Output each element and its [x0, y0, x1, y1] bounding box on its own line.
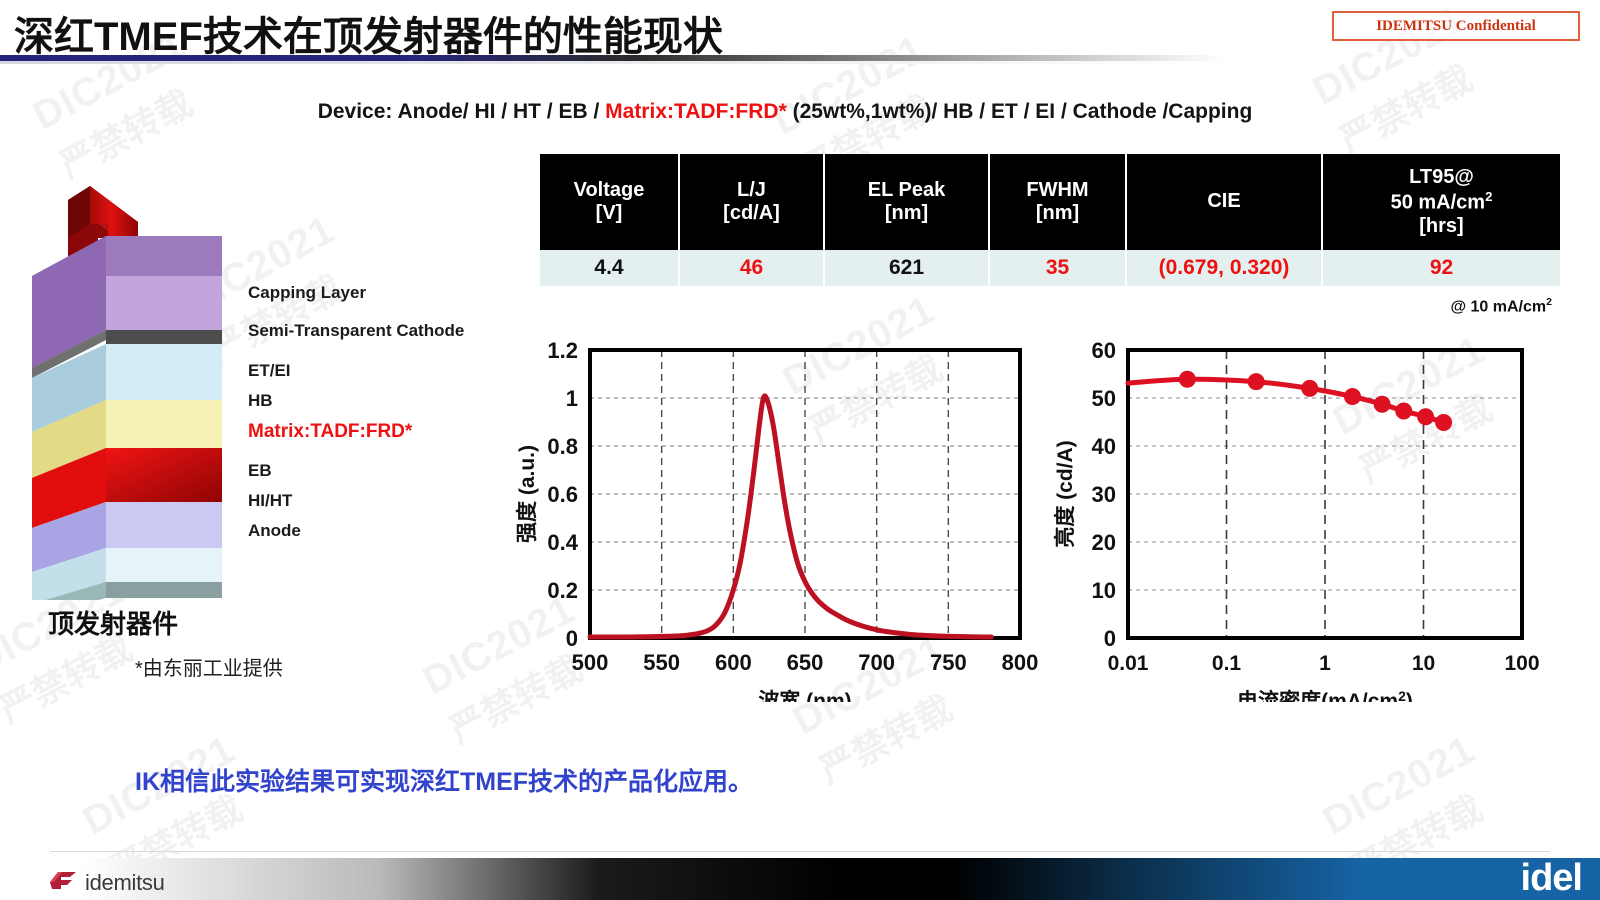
table-header-lj: L/J[cd/A]	[680, 154, 825, 250]
stack-label-cathode: Semi-Transparent Cathode	[248, 322, 464, 339]
ytick-label: 10	[1092, 578, 1116, 603]
y-axis-label: 亮度 (cd/A)	[1053, 440, 1077, 547]
xtick-label: 650	[787, 650, 824, 675]
xtick-label: 10	[1412, 652, 1435, 675]
bottom-message: IK相信此实验结果可实现深红TMEF技术的产品化应用。	[135, 762, 753, 798]
xtick-label: 600	[715, 650, 752, 675]
xtick-label: 750	[930, 650, 967, 675]
device-line-suffix: (25wt%,1wt%)/ HB / ET / EI / Cathode /Ca…	[787, 100, 1253, 123]
table-cell-fwhm: 35	[990, 250, 1127, 286]
performance-table: Voltage[V] L/J[cd/A] EL Peak[nm] FWHM[nm…	[540, 154, 1560, 286]
table-cell-cie: (0.679, 0.320)	[1127, 250, 1323, 286]
table-value-row: 4.4 46 621 35 (0.679, 0.320) 92	[540, 250, 1560, 286]
footer-company-logo: idemitsu	[48, 868, 165, 897]
ytick-label: 0.2	[547, 578, 578, 603]
footer-divider	[50, 851, 1550, 852]
table-header-lt95: LT95@50 mA/cm2[hrs]	[1323, 154, 1560, 250]
confidential-badge: IDEMITSU Confidential	[1332, 11, 1580, 41]
device-stack-supply-note: *由东丽工业提供	[135, 652, 283, 681]
ytick-label: 50	[1092, 386, 1116, 411]
footer-company-name: idemitsu	[85, 870, 165, 896]
table-header-el-peak: EL Peak[nm]	[825, 154, 990, 250]
ytick-label: 0.6	[547, 482, 578, 507]
series-marker	[1374, 396, 1391, 413]
stack-label-eb: EB	[248, 462, 272, 479]
table-cell-lj: 46	[680, 250, 825, 286]
ytick-label: 0.8	[547, 434, 578, 459]
x-axis-label: 电流密度(mA/cm2)	[1237, 688, 1413, 702]
device-stack-caption: 顶发射器件	[48, 604, 178, 641]
series-line	[1128, 379, 1444, 422]
xtick-label: 550	[643, 650, 680, 675]
ytick-label: 0	[1104, 626, 1116, 651]
stack-label-emissive: Matrix:TADF:FRD*	[248, 422, 412, 441]
footer-right-brand: idel	[1521, 857, 1582, 900]
series-marker	[1417, 408, 1434, 425]
slide-root: DIC2021严禁转载 DIC2021严禁转载 DIC2021严禁转载 DIC2…	[0, 0, 1600, 900]
stack-label-anode: Anode	[248, 522, 301, 539]
series-marker	[1344, 388, 1361, 405]
stack-label-hb: HB	[248, 392, 273, 409]
chart-efficiency: 01020304050600.010.1110100亮度 (cd/A)电流密度(…	[1050, 342, 1560, 702]
xtick-label: 0.1	[1212, 652, 1242, 675]
table-header-cie: CIE	[1127, 154, 1323, 250]
device-line-prefix: Device: Anode/ HI / HT / EB /	[318, 100, 605, 123]
page-title: 深红TMEF技术在顶发射器件的性能现状	[14, 4, 723, 62]
x-axis-label: 波宽 (nm)	[758, 689, 851, 702]
table-header-row: Voltage[V] L/J[cd/A] EL Peak[nm] FWHM[nm…	[540, 154, 1560, 250]
xtick-label: 0.01	[1108, 652, 1149, 675]
table-cell-voltage: 4.4	[540, 250, 680, 286]
table-footnote: @ 10 mA/cm2	[540, 296, 1560, 316]
device-stack-diagram: Capping Layer Semi-Transparent Cathode E…	[10, 180, 510, 600]
series-marker	[1179, 371, 1196, 388]
series-marker	[1301, 380, 1318, 397]
table-header-fwhm: FWHM[nm]	[990, 154, 1127, 250]
ytick-label: 0	[566, 626, 578, 651]
y-axis-label: 强度 (a.u.)	[515, 445, 539, 543]
xtick-label: 800	[1002, 650, 1039, 675]
ytick-label: 1.2	[547, 342, 578, 363]
stack-label-hi-ht: HI/HT	[248, 492, 292, 509]
table-header-voltage: Voltage[V]	[540, 154, 680, 250]
series-marker	[1248, 373, 1265, 390]
stack-label-et-ei: ET/EI	[248, 362, 291, 379]
ytick-label: 20	[1092, 530, 1116, 555]
table-cell-lt95: 92	[1323, 250, 1560, 286]
xtick-label: 100	[1504, 652, 1539, 675]
xtick-label: 500	[572, 650, 609, 675]
device-line-highlight: Matrix:TADF:FRD*	[605, 100, 787, 123]
ytick-label: 1	[566, 386, 578, 411]
ytick-label: 30	[1092, 482, 1116, 507]
table-cell-el-peak: 621	[825, 250, 990, 286]
ytick-label: 0.4	[547, 530, 578, 555]
xtick-label: 700	[858, 650, 895, 675]
footer-brand-band: idel	[1355, 858, 1600, 900]
xtick-label: 1	[1319, 652, 1331, 675]
series-marker	[1435, 414, 1452, 431]
stack-label-capping: Capping Layer	[248, 284, 366, 301]
footer-gradient-band	[0, 858, 1360, 900]
idemitsu-logo-icon	[48, 868, 78, 897]
ytick-label: 40	[1092, 434, 1116, 459]
title-divider-shadow	[0, 61, 1225, 64]
device-structure-line: Device: Anode/ HI / HT / EB / Matrix:TAD…	[0, 100, 1570, 124]
ytick-label: 60	[1092, 342, 1116, 363]
series-marker	[1395, 402, 1412, 419]
chart-el-spectrum: 00.20.40.60.811.2500550600650700750800强度…	[512, 342, 1042, 702]
series-line	[590, 396, 991, 637]
